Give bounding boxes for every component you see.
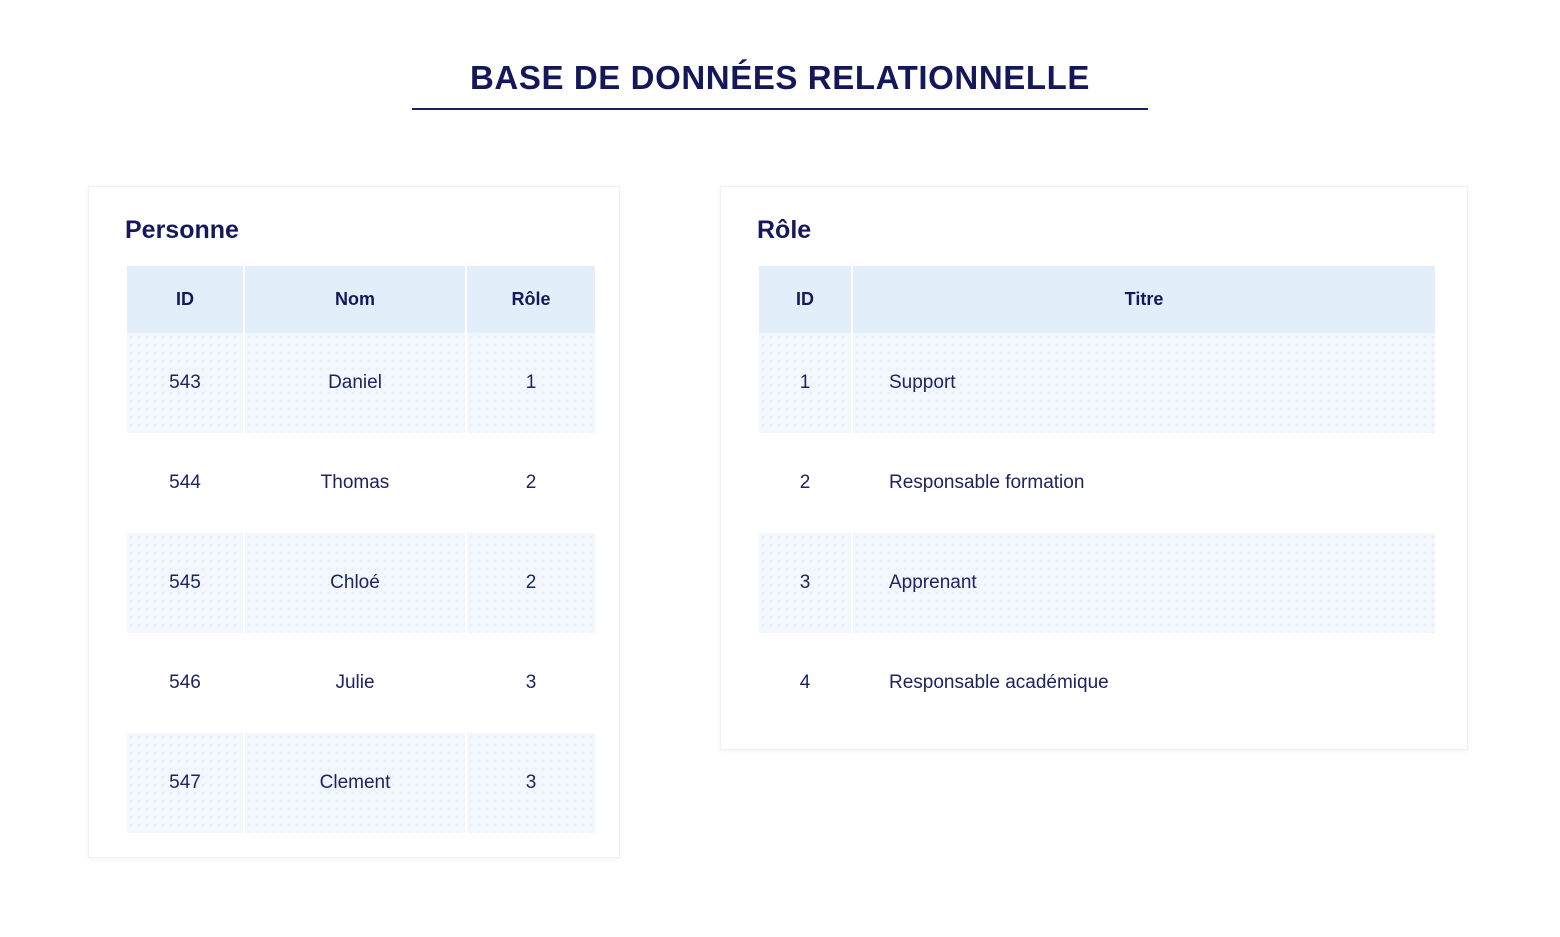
cell-role: 3 [467, 633, 595, 733]
title-block: BASE DE DONNÉES RELATIONNELLE [412, 56, 1148, 110]
cell-id: 546 [127, 633, 243, 733]
page-root: BASE DE DONNÉES RELATIONNELLE Personne I… [0, 0, 1560, 937]
table-header-role: ID Titre [759, 266, 1435, 333]
column-header-id: ID [759, 266, 851, 333]
table-body-role: 1 Support 2 Responsable formation 3 Appr… [759, 333, 1435, 733]
page-title: BASE DE DONNÉES RELATIONNELLE [412, 56, 1148, 100]
cell-role: 2 [467, 533, 595, 633]
column-header-id: ID [127, 266, 243, 333]
cell-id: 1 [759, 333, 851, 433]
table-row: 4 Responsable académique [759, 633, 1435, 733]
table-row: 547 Clement 3 [127, 733, 595, 833]
table-row: 544 Thomas 2 [127, 433, 595, 533]
table-header-row: ID Nom Rôle [127, 266, 595, 333]
cell-nom: Thomas [245, 433, 465, 533]
table-row: 543 Daniel 1 [127, 333, 595, 433]
cell-id: 4 [759, 633, 851, 733]
cell-id: 545 [127, 533, 243, 633]
table-header-personne: ID Nom Rôle [127, 266, 595, 333]
table-card-personne: Personne ID Nom Rôle 543 Daniel 1 5 [88, 186, 620, 858]
table-header-row: ID Titre [759, 266, 1435, 333]
cell-nom: Julie [245, 633, 465, 733]
column-header-role: Rôle [467, 266, 595, 333]
table-row: 2 Responsable formation [759, 433, 1435, 533]
table-personne: ID Nom Rôle 543 Daniel 1 544 Thomas 2 54… [125, 266, 597, 833]
table-row: 545 Chloé 2 [127, 533, 595, 633]
cell-id: 544 [127, 433, 243, 533]
cell-role: 3 [467, 733, 595, 833]
table-card-role: Rôle ID Titre 1 Support 2 Responsable fo… [720, 186, 1468, 750]
column-header-titre: Titre [853, 266, 1435, 333]
card-title-personne: Personne [125, 214, 239, 246]
cell-titre: Responsable formation [853, 433, 1435, 533]
cell-nom: Clement [245, 733, 465, 833]
cell-titre: Support [853, 333, 1435, 433]
table-row: 546 Julie 3 [127, 633, 595, 733]
cell-id: 2 [759, 433, 851, 533]
title-underline-divider [412, 108, 1148, 110]
cell-id: 547 [127, 733, 243, 833]
cell-id: 3 [759, 533, 851, 633]
table-role: ID Titre 1 Support 2 Responsable formati… [757, 266, 1437, 733]
column-header-nom: Nom [245, 266, 465, 333]
cell-role: 2 [467, 433, 595, 533]
table-row: 3 Apprenant [759, 533, 1435, 633]
cell-id: 543 [127, 333, 243, 433]
cell-nom: Chloé [245, 533, 465, 633]
cell-nom: Daniel [245, 333, 465, 433]
cell-role: 1 [467, 333, 595, 433]
table-body-personne: 543 Daniel 1 544 Thomas 2 545 Chloé 2 54… [127, 333, 595, 833]
table-row: 1 Support [759, 333, 1435, 433]
cell-titre: Responsable académique [853, 633, 1435, 733]
cell-titre: Apprenant [853, 533, 1435, 633]
card-title-role: Rôle [757, 214, 811, 246]
